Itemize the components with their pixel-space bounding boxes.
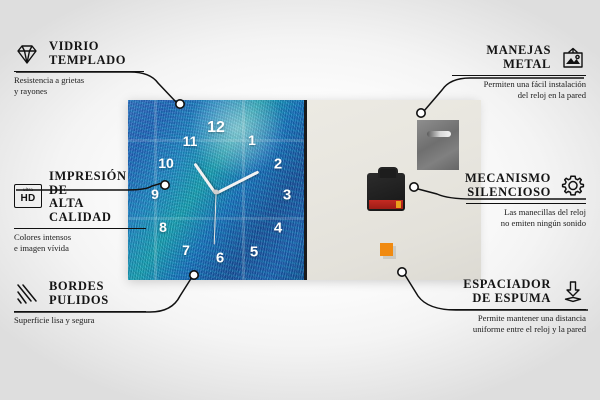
clock-numeral-10: 10 — [158, 156, 174, 170]
diagonal-lines-icon — [14, 281, 40, 307]
feature-description: Permiten una fácil instalación del reloj… — [452, 79, 586, 100]
feature-title: VIDRIO TEMPLADO — [49, 40, 126, 67]
feature-description: Superficie lisa y segura — [14, 315, 146, 326]
feature-title: MANEJAS METAL — [452, 44, 551, 71]
feature-title: IMPRESIÓN DE ALTA CALIDAD — [49, 170, 146, 224]
clock-numeral-2: 2 — [274, 157, 282, 172]
feature-title: MECANISMO SILENCIOSO — [465, 172, 551, 199]
clock-numeral-5: 5 — [250, 245, 258, 260]
feature-description: Resistencia a grietas y rayones — [14, 75, 144, 96]
foam-spacer — [380, 243, 393, 256]
picture-frame-icon — [560, 45, 586, 71]
clock-front-panel: 12 1 2 3 4 5 6 7 8 9 10 11 — [128, 100, 304, 280]
feature-description: Colores intensos e imagen vívida — [14, 232, 146, 253]
product-image: 12 1 2 3 4 5 6 7 8 9 10 11 — [128, 100, 478, 280]
metal-hanger-icon — [417, 120, 459, 170]
feature-divider — [14, 71, 144, 72]
battery — [369, 200, 403, 209]
clock-numeral-7: 7 — [182, 243, 190, 257]
hanger-slot — [427, 131, 451, 137]
clock-mechanism — [367, 173, 405, 211]
ultra-hd-large-text: HD — [20, 194, 35, 204]
feature-divider — [14, 311, 146, 312]
clock-numeral-4: 4 — [274, 221, 282, 236]
clock-numeral-9: 9 — [151, 187, 159, 201]
clock-back-panel — [304, 100, 481, 280]
clock-numeral-1: 1 — [248, 133, 256, 147]
clock-center-hub — [214, 190, 219, 195]
feature-description: Las manecillas del reloj no emiten ningú… — [466, 207, 586, 228]
clock-numeral-6: 6 — [216, 251, 224, 266]
diamond-icon — [14, 41, 40, 67]
clock-numeral-3: 3 — [283, 188, 291, 203]
feature-divider — [466, 203, 586, 204]
gear-icon — [560, 173, 586, 199]
arrow-layers-icon — [560, 279, 586, 305]
feature-divider — [448, 309, 586, 310]
feature-bordes-pulidos: BORDES PULIDOS Superficie lisa y segura — [14, 280, 146, 326]
clock-numeral-11: 11 — [183, 134, 198, 148]
clock-minute-hand — [215, 170, 259, 195]
feature-title: BORDES PULIDOS — [49, 280, 109, 307]
feature-vidrio-templado: VIDRIO TEMPLADO Resistencia a grietas y … — [14, 40, 144, 97]
infographic-canvas: 12 1 2 3 4 5 6 7 8 9 10 11 — [0, 0, 600, 400]
clock-numeral-12: 12 — [207, 120, 225, 136]
feature-description: Permite mantener una distancia uniforme … — [448, 313, 586, 334]
feature-manejas-metal: MANEJAS METAL Permiten una fácil instala… — [452, 44, 586, 101]
feature-mecanismo-silencioso: MECANISMO SILENCIOSO Las manecillas del … — [466, 172, 586, 229]
feature-impresion-alta-calidad: ultra HD IMPRESIÓN DE ALTA CALIDAD Color… — [14, 170, 146, 254]
feature-divider — [14, 228, 146, 229]
feature-title: ESPACIADOR DE ESPUMA — [448, 278, 551, 305]
clock-numeral-8: 8 — [159, 220, 167, 234]
feature-espaciador-espuma: ESPACIADOR DE ESPUMA Permite mantener un… — [448, 278, 586, 335]
clock-second-hand — [214, 193, 217, 245]
feature-divider — [452, 75, 586, 76]
mechanism-loop — [378, 167, 398, 178]
ultra-hd-icon: ultra HD — [14, 184, 40, 210]
